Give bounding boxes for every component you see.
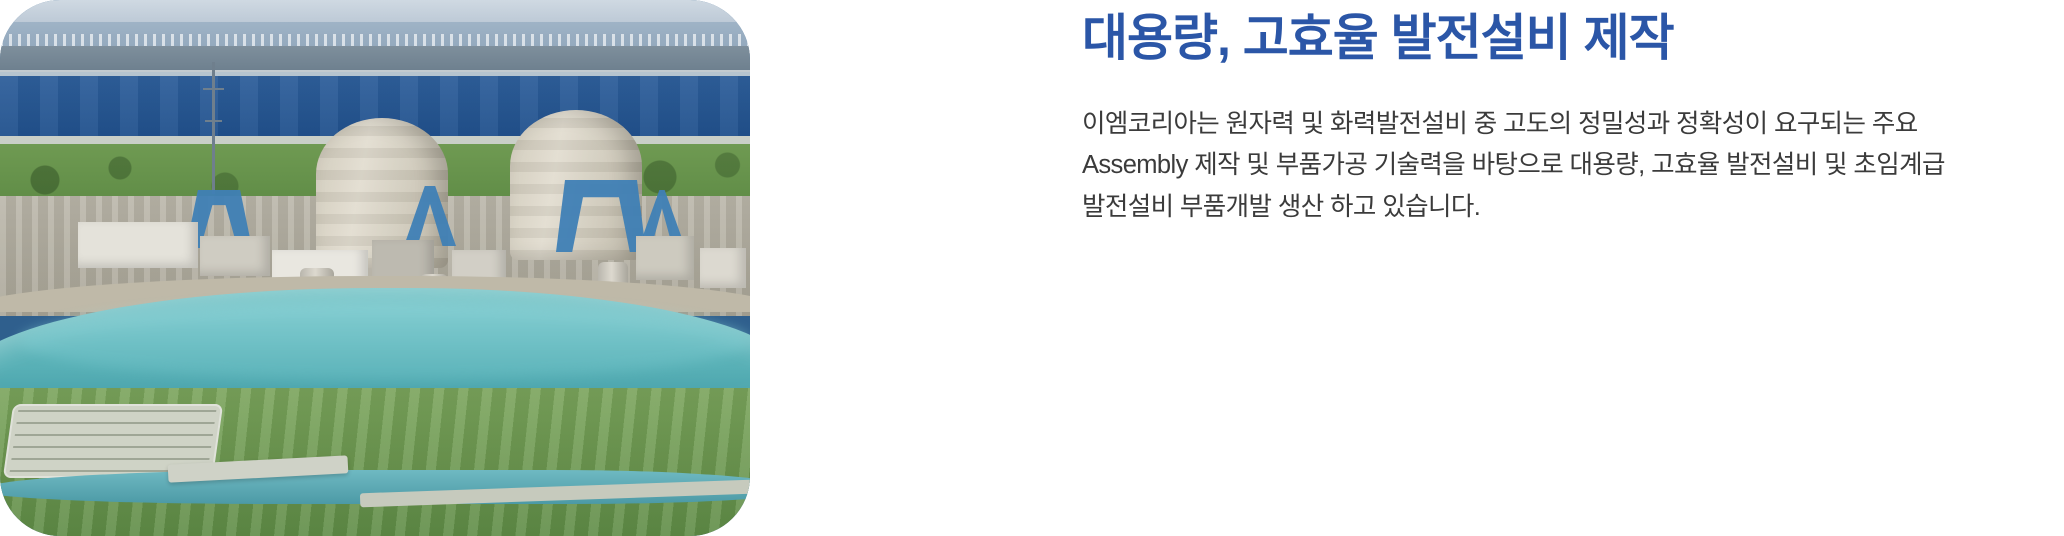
tree-line-band [0,46,750,72]
antenna-mast [212,62,215,194]
plant-building-1 [78,222,198,268]
distant-town-band [0,34,750,46]
plant-building-2 [200,236,270,276]
plant-building-6 [636,236,694,280]
text-column: 대용량, 고효율 발전설비 제작 이엠코리아는 원자력 및 화력발전설비 중 고… [750,0,2064,228]
plant-building-7 [700,248,746,288]
photo-illustration [0,0,750,536]
section-body-text: 이엠코리아는 원자력 및 화력발전설비 중 고도의 정밀성과 정확성이 요구되는… [1082,68,2024,228]
power-plant-photo [0,0,750,536]
section-heading: 대용량, 고효율 발전설비 제작 [1082,0,2024,68]
feature-section: 대용량, 고효율 발전설비 제작 이엠코리아는 원자력 및 화력발전설비 중 고… [0,0,2064,536]
